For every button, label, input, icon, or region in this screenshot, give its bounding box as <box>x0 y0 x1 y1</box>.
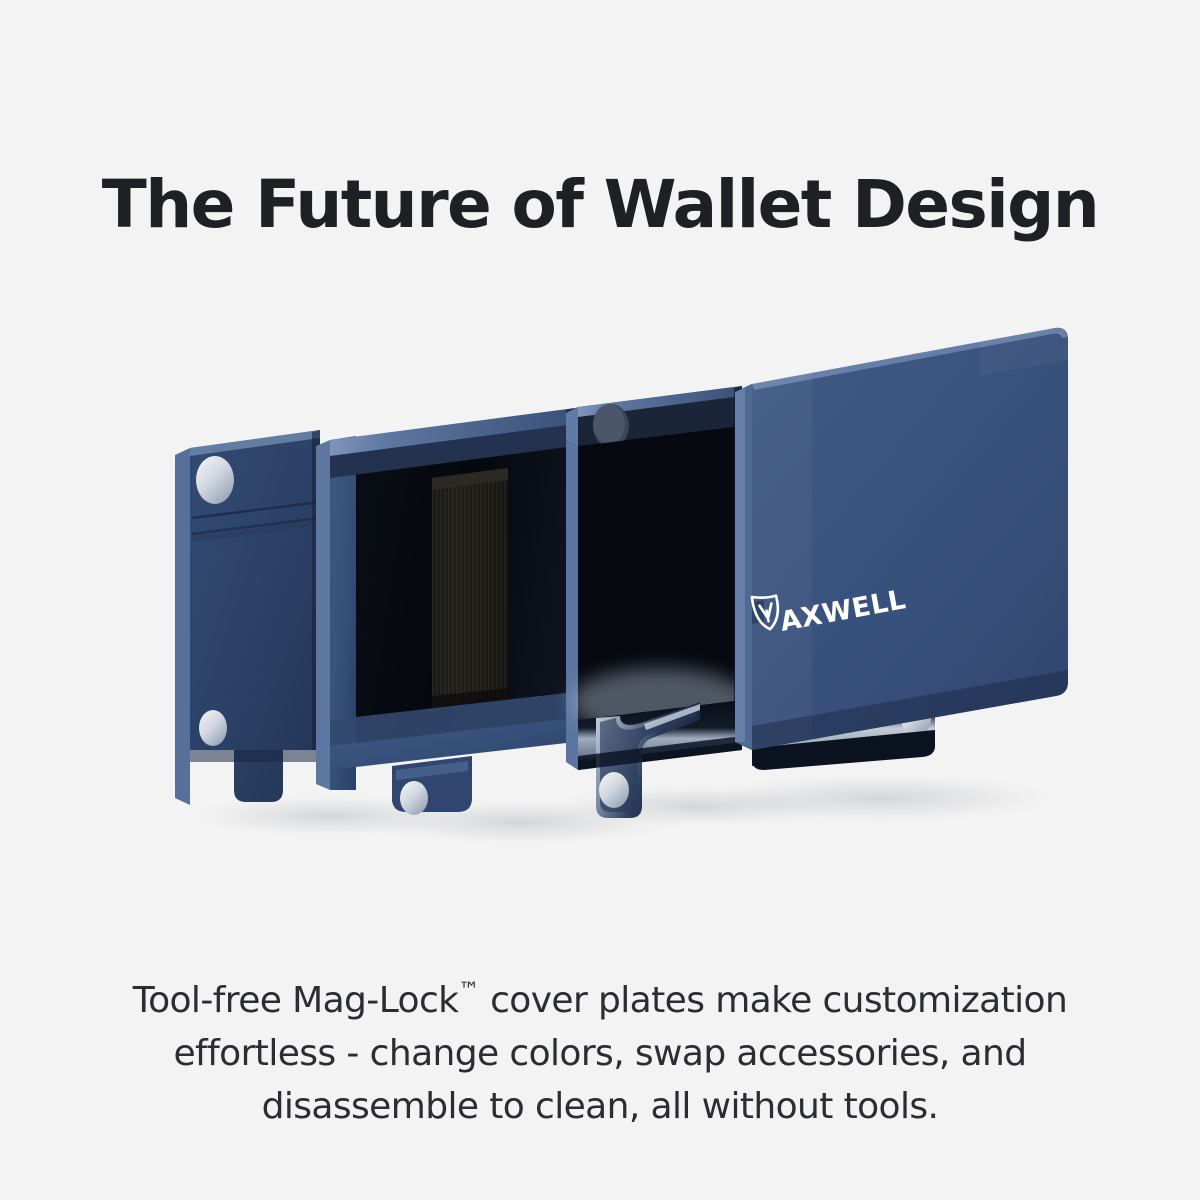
caption-line-1: Tool-free Mag-Lock™ cover plates make cu… <box>80 964 1120 1027</box>
component-mid-frame-cash-clip <box>566 386 750 818</box>
promo-card: The Future of Wallet Design <box>0 0 1200 1200</box>
component-front-cover-plate: AXWELL <box>735 326 1068 770</box>
page-title: The Future of Wallet Design <box>0 170 1200 240</box>
product-description: Tool-free Mag-Lock™ cover plates make cu… <box>80 964 1120 1133</box>
component-back-cover-plate <box>175 430 320 805</box>
magnet-disc <box>400 781 428 815</box>
caption-line-2: effortless - change colors, swap accesso… <box>80 1027 1120 1080</box>
caption-line-3: disassemble to clean, all without tools. <box>80 1080 1120 1133</box>
magnet-disc <box>199 710 227 746</box>
caption-line-1-text: Tool-free Mag-Lock <box>133 980 459 1021</box>
magnet-disc <box>196 456 234 504</box>
product-exploded-view: AXWELL <box>0 250 1200 870</box>
caption-line-1-rest: cover plates make customization <box>479 980 1067 1021</box>
trademark-symbol: ™ <box>458 978 479 1002</box>
magnet-disc <box>599 772 629 808</box>
component-inner-chassis-elastic <box>316 408 575 815</box>
